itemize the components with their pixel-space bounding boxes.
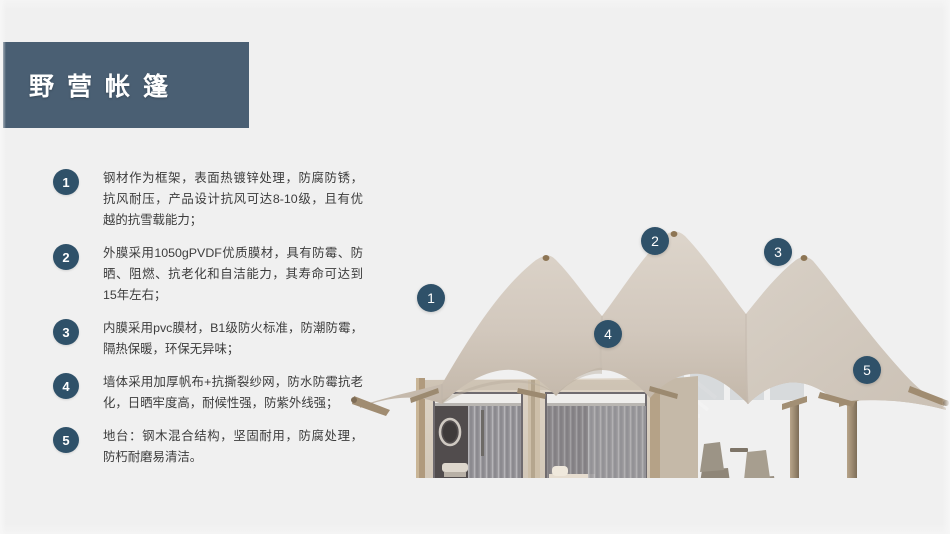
page-title: 野营帐篷 (3, 67, 181, 103)
feature-item-4: 4 墙体采用加厚帆布+抗撕裂纱网，防水防霉抗老化，日晒牢度高，耐候性强，防紫外线… (53, 372, 363, 414)
feature-badge-4: 4 (53, 373, 79, 399)
title-banner: 野营帐篷 (3, 42, 249, 128)
feature-item-3: 3 内膜采用pvc膜材，B1级防火标准，防潮防霉，隔热保暖，环保无异味； (53, 318, 363, 360)
feature-badge-3: 3 (53, 319, 79, 345)
window-bedroom (546, 393, 646, 478)
tent-roof-membrane (360, 231, 946, 410)
tent-graphic (350, 148, 950, 478)
page-root: 野营帐篷 1 钢材作为框架，表面热镀锌处理，防腐防锈，抗风耐压，产品设计抗风可达… (0, 0, 950, 534)
callout-badge-2[interactable]: 2 (641, 227, 669, 255)
feature-item-1: 1 钢材作为框架，表面热镀锌处理，防腐防锈，抗风耐压，产品设计抗风可达8-10级… (53, 168, 363, 231)
callout-badge-4[interactable]: 4 (594, 320, 622, 348)
feature-text-2: 外膜采用1050gPVDF优质膜材，具有防霉、防晒、阻燃、抗老化和自洁能力，其寿… (103, 243, 363, 306)
callout-badge-5[interactable]: 5 (853, 356, 881, 384)
feature-text-4: 墙体采用加厚帆布+抗撕裂纱网，防水防霉抗老化，日晒牢度高，耐候性强，防紫外线强； (103, 372, 363, 414)
feature-text-5: 地台：钢木混合结构，坚固耐用，防腐处理，防朽耐磨易清洁。 (103, 426, 363, 468)
callout-badge-1[interactable]: 1 (417, 284, 445, 312)
patio-furniture (698, 416, 778, 478)
feature-text-1: 钢材作为框架，表面热镀锌处理，防腐防锈，抗风耐压，产品设计抗风可达8-10级，且… (103, 168, 363, 231)
feature-badge-2: 2 (53, 244, 79, 270)
tent-illustration (350, 148, 950, 478)
feature-badge-5: 5 (53, 427, 79, 453)
feature-badge-1: 1 (53, 169, 79, 195)
feature-text-3: 内膜采用pvc膜材，B1级防火标准，防潮防霉，隔热保暖，环保无异味； (103, 318, 363, 360)
feature-item-2: 2 外膜采用1050gPVDF优质膜材，具有防霉、防晒、阻燃、抗老化和自洁能力，… (53, 243, 363, 306)
feature-list: 1 钢材作为框架，表面热镀锌处理，防腐防锈，抗风耐压，产品设计抗风可达8-10级… (53, 168, 363, 480)
window-bathroom (434, 393, 522, 478)
feature-item-5: 5 地台：钢木混合结构，坚固耐用，防腐处理，防朽耐磨易清洁。 (53, 426, 363, 468)
callout-badge-3[interactable]: 3 (764, 238, 792, 266)
